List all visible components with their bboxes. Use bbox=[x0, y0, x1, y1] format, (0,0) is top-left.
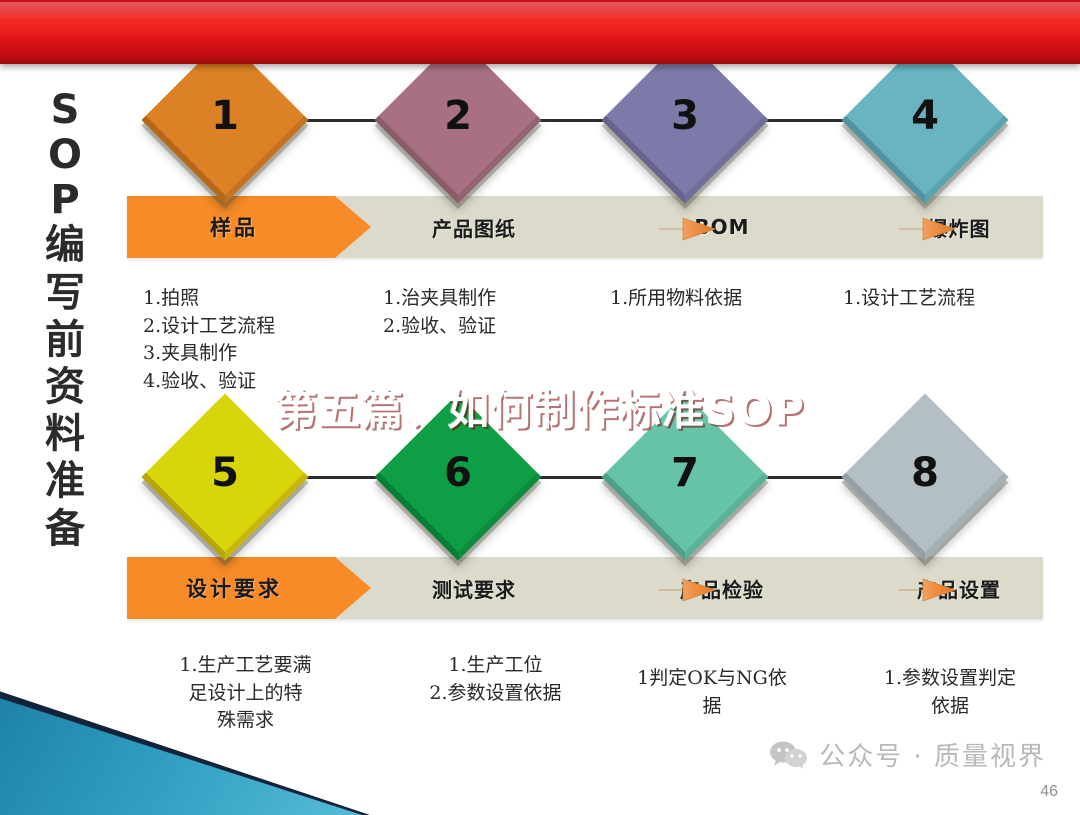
page-number: 46 bbox=[1040, 783, 1058, 801]
step-number: 1 bbox=[169, 60, 281, 172]
note-column-7: 1判定OK与NG依 据 bbox=[612, 665, 812, 720]
flow-arrow-icon bbox=[897, 214, 959, 242]
step-number: 2 bbox=[402, 60, 514, 172]
note-column-6: 1.生产工位 2.参数设置依据 bbox=[388, 652, 603, 707]
step-number: 3 bbox=[629, 60, 741, 172]
watermark-text: 公众号 · 质量视界 bbox=[819, 736, 1046, 773]
side-label-char: O bbox=[48, 133, 82, 178]
note-column-3: 1.所用物料依据 bbox=[610, 285, 840, 313]
wechat-icon bbox=[769, 740, 809, 770]
side-label-char: 备 bbox=[45, 506, 85, 553]
step-number: 4 bbox=[869, 60, 981, 172]
note-column-5: 1.生产工艺要满 足设计上的特 殊需求 bbox=[138, 652, 353, 735]
side-label-char: 编 bbox=[45, 222, 85, 269]
phase-cell-row2-4[interactable]: 产品设置 bbox=[869, 557, 1049, 619]
side-label-char: 准 bbox=[45, 458, 85, 505]
phase-highlight-label: 样品 bbox=[210, 212, 258, 242]
phase-highlight-row2[interactable]: 设计要求 bbox=[127, 557, 371, 619]
flow-arrow-icon bbox=[657, 575, 719, 603]
phase-highlight-label: 设计要求 bbox=[186, 573, 282, 603]
flow-arrow-icon bbox=[897, 575, 959, 603]
phase-cell-row1-4[interactable]: 爆炸图 bbox=[869, 196, 1049, 258]
phase-strip-row2: 设计要求 测试要求 产品检验 产品设置 bbox=[127, 557, 1043, 619]
note-column-8: 1.参数设置判定 依据 bbox=[845, 665, 1055, 720]
watermark: 公众号 · 质量视界 bbox=[769, 736, 1046, 773]
side-label-char: 前 bbox=[45, 317, 85, 364]
phase-highlight-row1[interactable]: 样品 bbox=[127, 196, 371, 258]
phase-strip-row1: 样品 产品图纸 BOM 爆炸图 bbox=[127, 196, 1043, 258]
flow-arrow-icon bbox=[657, 214, 719, 242]
slide-canvas: 第五篇、如何制作标准SOP S O P 编 写 前 资 料 准 备 1 2 3 … bbox=[0, 0, 1080, 815]
phase-cell-row1-2[interactable]: 产品图纸 bbox=[389, 196, 559, 258]
side-label-char: S bbox=[51, 88, 80, 133]
side-label-char: 写 bbox=[45, 270, 85, 317]
page-title: 第五篇、如何制作标准SOP bbox=[0, 376, 1080, 437]
note-column-2: 1.治夹具制作 2.验收、验证 bbox=[383, 285, 613, 340]
phase-cell-row2-2[interactable]: 测试要求 bbox=[389, 557, 559, 619]
side-label-char: P bbox=[50, 178, 79, 223]
title-banner bbox=[0, 0, 1080, 64]
note-column-4: 1.设计工艺流程 bbox=[843, 285, 1073, 313]
